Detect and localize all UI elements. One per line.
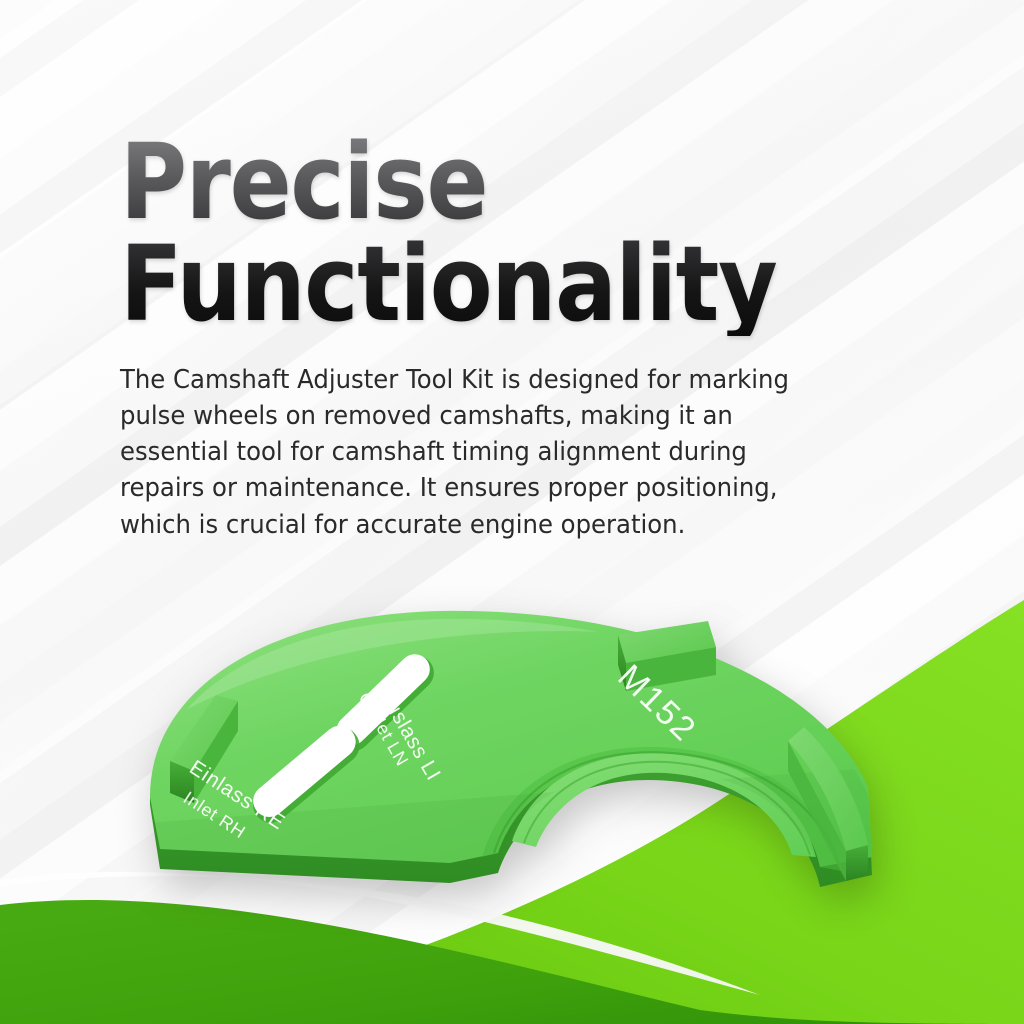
- headline-line-2: Functionality: [120, 234, 806, 336]
- body-description: The Camshaft Adjuster Tool Kit is design…: [120, 362, 822, 543]
- page-title: Precise Functionality: [120, 132, 806, 336]
- camshaft-adjuster-tool-svg: Auslass LI Outlet LN Einlass RE Inlet RH…: [120, 575, 910, 975]
- product-promo-poster: Precise Functionality The Camshaft Adjus…: [0, 0, 1024, 1024]
- text-content-block: Precise Functionality The Camshaft Adjus…: [120, 132, 900, 543]
- product-image: Auslass LI Outlet LN Einlass RE Inlet RH…: [120, 575, 910, 975]
